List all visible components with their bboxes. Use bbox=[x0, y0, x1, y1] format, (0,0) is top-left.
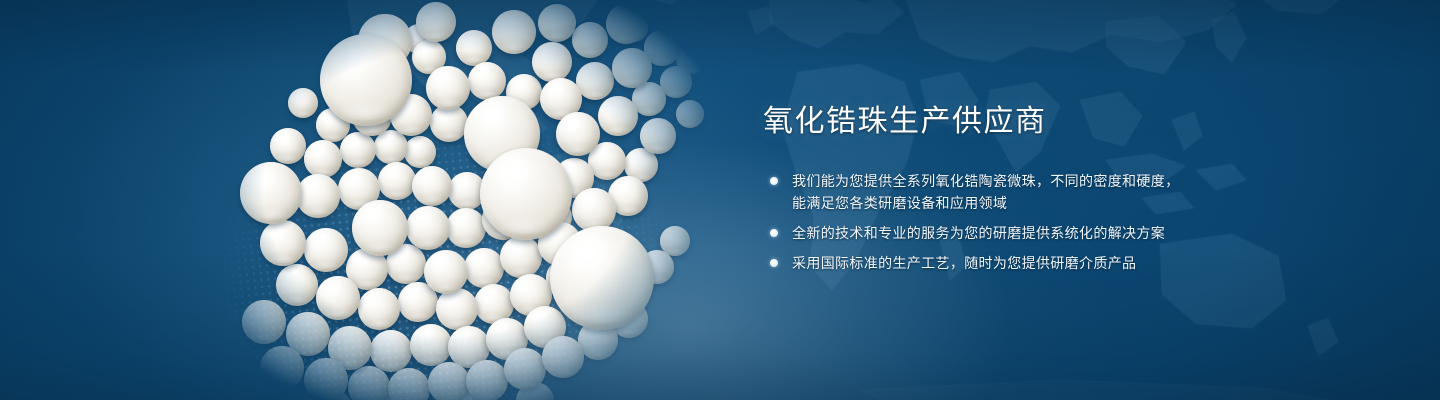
ceramic-bead bbox=[374, 130, 408, 164]
ceramic-bead bbox=[612, 48, 652, 88]
list-item-line-1: 采用国际标准的生产工艺，随时为您提供研磨介质产品 bbox=[792, 252, 1283, 274]
list-item-line-1: 我们能为您提供全系列氧化锆陶瓷微珠，不同的密度和硬度， bbox=[792, 170, 1283, 192]
list-item: 我们能为您提供全系列氧化锆陶瓷微珠，不同的密度和硬度， 能满足您各类研磨设备和应… bbox=[763, 170, 1283, 214]
ceramic-bead bbox=[556, 112, 600, 156]
ceramic-bead bbox=[576, 62, 614, 100]
bullet-dot-icon bbox=[770, 229, 778, 237]
ceramic-bead bbox=[492, 10, 536, 54]
ceramic-bead bbox=[304, 228, 348, 272]
ceramic-bead bbox=[304, 358, 348, 400]
ceramic-bead bbox=[480, 148, 572, 240]
ceramic-bead bbox=[606, 4, 646, 44]
ceramic-bead bbox=[370, 330, 412, 372]
ceramic-bead bbox=[358, 288, 400, 330]
ceramic-bead bbox=[296, 174, 340, 218]
banner-content: 氧化锆珠生产供应商 我们能为您提供全系列氧化锆陶瓷微珠，不同的密度和硬度， 能满… bbox=[763, 104, 1283, 274]
page-title: 氧化锆珠生产供应商 bbox=[763, 104, 1283, 139]
ceramic-bead bbox=[500, 236, 542, 278]
ceramic-bead bbox=[412, 166, 452, 206]
ceramic-bead bbox=[466, 360, 508, 400]
ceramic-bead bbox=[352, 200, 408, 256]
ceramic-bead bbox=[416, 2, 456, 42]
ceramic-bead bbox=[428, 362, 470, 400]
ceramic-bead bbox=[424, 250, 468, 294]
ceramic-bead bbox=[260, 220, 306, 266]
ceramic-bead bbox=[340, 132, 376, 168]
ceramic-bead bbox=[598, 96, 638, 136]
ceramic-bead bbox=[304, 140, 342, 178]
ceramic-bead bbox=[260, 346, 304, 390]
list-item: 采用国际标准的生产工艺，随时为您提供研磨介质产品 bbox=[763, 252, 1283, 274]
ceramic-bead bbox=[532, 42, 572, 82]
ceramic-bead bbox=[468, 62, 506, 100]
ceramic-bead bbox=[676, 100, 704, 128]
ceramic-bead bbox=[270, 128, 306, 164]
bullet-dot-icon bbox=[770, 259, 778, 267]
feature-list: 我们能为您提供全系列氧化锆陶瓷微珠，不同的密度和硬度， 能满足您各类研磨设备和应… bbox=[763, 170, 1283, 274]
bullet-dot-icon bbox=[770, 177, 778, 185]
ceramic-bead bbox=[240, 162, 302, 224]
ceramic-bead bbox=[550, 226, 654, 330]
hero-banner: 氧化锆珠生产供应商 我们能为您提供全系列氧化锆陶瓷微珠，不同的密度和硬度， 能满… bbox=[0, 0, 1440, 400]
list-item: 全新的技术和专业的服务为您的研磨提供系统化的解决方案 bbox=[763, 222, 1283, 244]
ceramic-bead bbox=[378, 162, 416, 200]
ceramic-bead bbox=[406, 206, 450, 250]
ceramic-bead bbox=[316, 276, 360, 320]
ceramic-bead bbox=[348, 366, 390, 400]
ceramic-bead bbox=[388, 368, 430, 400]
ceramic-bead bbox=[640, 118, 676, 154]
ceramic-bead bbox=[538, 4, 576, 42]
ceramic-bead bbox=[542, 336, 584, 378]
ceramic-bead bbox=[572, 188, 616, 232]
ceramic-bead bbox=[410, 324, 452, 366]
ceramic-bead bbox=[572, 22, 608, 58]
ceramic-bead bbox=[404, 136, 436, 168]
ceramic-bead bbox=[464, 248, 504, 288]
ceramic-bead bbox=[446, 208, 486, 248]
list-item-line-1: 全新的技术和专业的服务为您的研磨提供系统化的解决方案 bbox=[792, 222, 1283, 244]
ceramic-bead bbox=[426, 66, 470, 110]
ceramic-bead bbox=[288, 88, 318, 118]
ceramic-bead bbox=[504, 348, 546, 390]
zirconia-bead-cluster-image bbox=[120, 0, 730, 400]
list-item-line-2: 能满足您各类研磨设备和应用领域 bbox=[792, 192, 1283, 214]
ceramic-bead bbox=[276, 264, 318, 306]
ceramic-bead bbox=[242, 300, 286, 344]
ceramic-bead bbox=[436, 288, 478, 330]
ceramic-bead bbox=[320, 34, 412, 126]
ceramic-bead bbox=[456, 30, 492, 66]
